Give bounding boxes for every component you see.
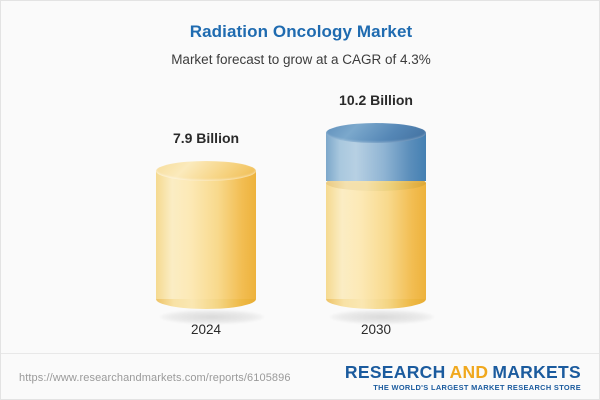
bar-category-label: 2024: [126, 321, 286, 339]
cylinder-base-segment: [156, 171, 256, 299]
chart-plot-area: 7.9 Billion 2024 10.2 Billion: [1, 1, 600, 349]
logo-word-research: RESEARCH: [345, 362, 446, 382]
logo-word-markets: MARKETS: [492, 362, 581, 382]
logo-wordmark: RESEARCHANDMARKETS: [345, 363, 581, 382]
cylinder-top-cap: [156, 161, 256, 181]
cylinder-top-cap: [326, 123, 426, 143]
footer-divider: [1, 353, 600, 354]
logo-tagline: THE WORLD'S LARGEST MARKET RESEARCH STOR…: [345, 383, 581, 393]
bar-value-label: 7.9 Billion: [126, 129, 286, 147]
report-url[interactable]: https://www.researchandmarkets.com/repor…: [19, 372, 291, 384]
research-and-markets-logo[interactable]: RESEARCHANDMARKETS THE WORLD'S LARGEST M…: [345, 363, 581, 393]
bar-group-2030: 10.2 Billion 2030: [296, 1, 456, 349]
bar-category-label: 2030: [296, 321, 456, 339]
bar-group-2024: 7.9 Billion 2024: [126, 1, 286, 349]
cylinder-2030: [326, 123, 426, 319]
cylinder-2024: [156, 161, 256, 319]
cylinder-base-segment: [326, 183, 426, 299]
bar-value-label: 10.2 Billion: [296, 91, 456, 109]
logo-word-and: AND: [450, 362, 489, 382]
chart-infographic: Radiation Oncology Market Market forecas…: [0, 0, 600, 400]
